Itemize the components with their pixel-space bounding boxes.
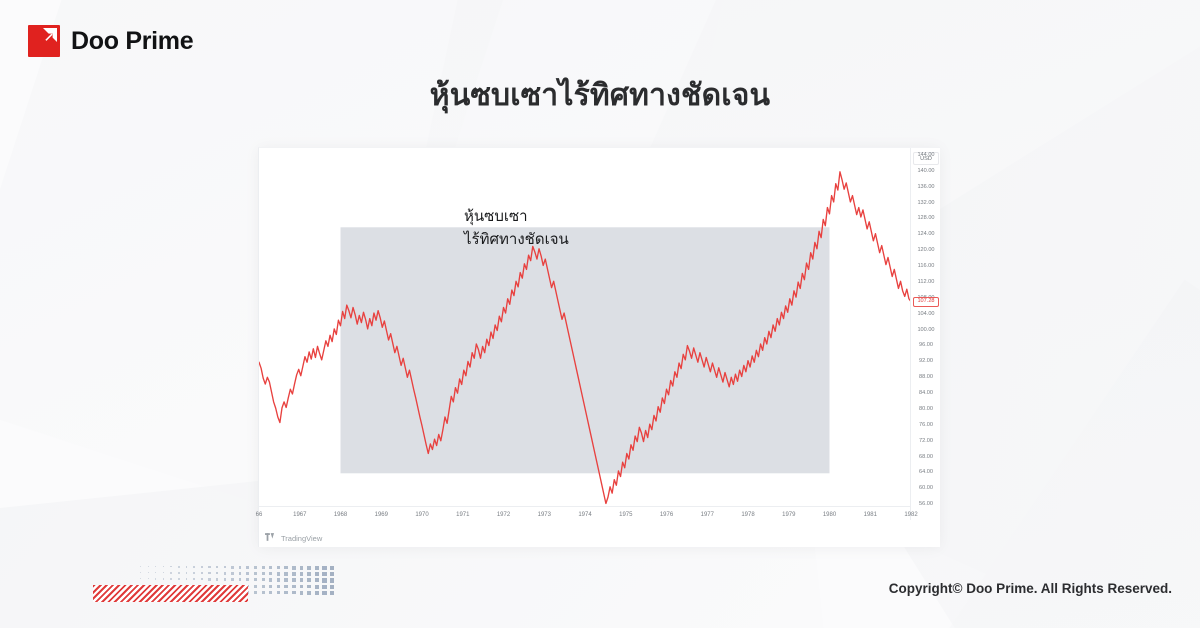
price-tick: 128.00 xyxy=(911,216,941,222)
decoration-dot xyxy=(300,578,304,582)
decoration-dot xyxy=(208,566,210,568)
decoration-dot xyxy=(254,591,257,594)
decoration-dot xyxy=(239,572,242,575)
decoration-dot xyxy=(322,572,326,576)
price-tick: 140.00 xyxy=(911,169,941,175)
decoration-dot xyxy=(254,566,257,569)
decoration-dot xyxy=(216,578,218,580)
decoration-dot xyxy=(307,578,311,582)
decoration-dot xyxy=(269,566,272,569)
price-tick: 76.00 xyxy=(911,423,941,429)
decoration-dot xyxy=(231,566,234,569)
tradingview-label: TradingView xyxy=(281,534,322,543)
price-tick: 100.00 xyxy=(911,328,941,334)
decoration-dot xyxy=(330,591,334,595)
decoration-dot xyxy=(330,566,334,570)
decoration-dot xyxy=(330,585,334,589)
price-tick: 120.00 xyxy=(911,248,941,254)
decoration-dot xyxy=(170,572,171,573)
decoration-dot xyxy=(148,566,149,567)
time-tick: 1982 xyxy=(904,512,917,518)
chart-annotation-label: หุ้นซบเซา ไร้ทิศทางชัดเจน xyxy=(464,205,569,252)
time-tick: 1971 xyxy=(456,512,469,518)
decoration-dot xyxy=(246,572,249,575)
price-tick: 132.00 xyxy=(911,201,941,207)
price-tick: 80.00 xyxy=(911,407,941,413)
decoration-dot xyxy=(307,591,311,595)
price-tick: 104.00 xyxy=(911,312,941,318)
decoration-dot xyxy=(186,566,188,568)
decoration-dot xyxy=(315,572,319,576)
decoration-dot xyxy=(208,572,210,574)
time-tick: 1976 xyxy=(660,512,673,518)
decoration-dot xyxy=(292,591,296,595)
decoration-dot xyxy=(307,566,311,570)
decoration-dot xyxy=(231,578,234,581)
decoration-dot xyxy=(216,572,218,574)
price-tick: 92.00 xyxy=(911,359,941,365)
price-tick: 124.00 xyxy=(911,232,941,238)
price-tick: 88.00 xyxy=(911,375,941,381)
decoration-dot xyxy=(322,585,326,589)
decoration-dot xyxy=(284,566,287,569)
decoration-dot xyxy=(208,578,210,580)
decoration-dot xyxy=(148,578,149,579)
decoration-dot xyxy=(216,566,218,568)
decoration-dot xyxy=(140,578,141,579)
decoration-dot xyxy=(292,578,296,582)
decoration-dot xyxy=(178,572,180,574)
price-tick: 112.00 xyxy=(911,280,941,286)
time-tick: 1969 xyxy=(375,512,388,518)
decoration-dot xyxy=(246,578,249,581)
decoration-dot xyxy=(300,572,304,576)
decoration-dot xyxy=(178,566,180,568)
decoration-dot xyxy=(322,591,326,595)
decoration-dot xyxy=(269,585,272,588)
decoration-dot xyxy=(269,578,272,581)
decoration-dot xyxy=(239,578,242,581)
decoration-dot xyxy=(254,572,257,575)
decoration-dot xyxy=(155,572,156,573)
chart-plot-area xyxy=(259,148,911,513)
decoration-dot xyxy=(292,572,296,576)
decoration-dot xyxy=(193,566,195,568)
time-tick: 1968 xyxy=(334,512,347,518)
decoration-dot xyxy=(148,572,149,573)
decoration-dot xyxy=(277,591,280,594)
decoration-dot xyxy=(140,572,141,573)
decoration-dot xyxy=(269,591,272,594)
price-axis[interactable]: USD 144.00140.00136.00132.00128.00124.00… xyxy=(910,148,940,520)
decoration-dot xyxy=(254,585,257,588)
time-tick: 1974 xyxy=(578,512,591,518)
footer-decoration xyxy=(88,566,348,606)
decoration-dot xyxy=(322,566,326,570)
time-axis[interactable]: 6619671968196919701971197219731974197519… xyxy=(259,506,911,524)
page-title: หุ้นซบเซาไร้ทิศทางชัดเจน xyxy=(0,72,1200,119)
time-tick: 1970 xyxy=(415,512,428,518)
decoration-dot xyxy=(193,572,195,574)
decoration-dot xyxy=(163,578,164,579)
decoration-dot xyxy=(186,578,188,580)
tradingview-logo-icon xyxy=(265,533,277,543)
decoration-dot xyxy=(315,585,319,589)
decoration-dot xyxy=(292,585,296,589)
decoration-dot xyxy=(224,566,226,568)
time-tick: 1975 xyxy=(619,512,632,518)
decoration-dot xyxy=(277,566,280,569)
decoration-dot xyxy=(330,572,334,576)
chart-card: หุ้นซบเซา ไร้ทิศทางชัดเจน USD 144.00140.… xyxy=(258,147,940,547)
decoration-dot xyxy=(307,585,311,589)
price-tick: 116.00 xyxy=(911,264,941,270)
decoration-dot xyxy=(262,566,265,569)
copyright-text: Copyright© Doo Prime. All Rights Reserve… xyxy=(889,581,1172,596)
decoration-dot xyxy=(193,578,195,580)
time-tick: 66 xyxy=(256,512,263,518)
time-tick: 1977 xyxy=(701,512,714,518)
decoration-dot xyxy=(300,585,304,589)
stripe-bar-decoration xyxy=(93,585,248,602)
time-tick: 1973 xyxy=(538,512,551,518)
decoration-dot xyxy=(307,572,311,576)
decoration-dot xyxy=(140,566,141,567)
decoration-dot xyxy=(322,578,326,582)
decoration-dot xyxy=(284,578,287,581)
decoration-dot xyxy=(262,572,265,575)
price-tick: 72.00 xyxy=(911,439,941,445)
decoration-dot xyxy=(201,566,203,568)
price-tick: 144.00 xyxy=(911,153,941,159)
price-line-chart xyxy=(259,148,911,513)
decoration-dot xyxy=(262,591,265,594)
decoration-dot xyxy=(277,578,280,581)
decoration-dot xyxy=(155,578,156,579)
decoration-dot xyxy=(292,566,296,570)
decoration-dot xyxy=(315,578,319,582)
time-tick: 1978 xyxy=(741,512,754,518)
time-tick: 1981 xyxy=(864,512,877,518)
decoration-dot xyxy=(284,591,287,594)
decoration-dot xyxy=(315,591,319,595)
decoration-dot xyxy=(300,591,304,595)
decoration-dot xyxy=(163,566,164,567)
price-tick: 136.00 xyxy=(911,185,941,191)
time-tick: 1980 xyxy=(823,512,836,518)
decoration-dot xyxy=(269,572,272,575)
price-tick: 68.00 xyxy=(911,455,941,461)
time-tick: 1972 xyxy=(497,512,510,518)
price-tick: 60.00 xyxy=(911,486,941,492)
decoration-dot xyxy=(330,578,334,582)
price-tick: 56.00 xyxy=(911,502,941,508)
decoration-dot xyxy=(170,566,171,567)
decoration-dot xyxy=(231,572,234,575)
price-tick: 96.00 xyxy=(911,343,941,349)
decoration-dot xyxy=(186,572,188,574)
decoration-dot xyxy=(201,572,203,574)
decoration-dot xyxy=(284,572,287,575)
decoration-dot xyxy=(224,572,226,574)
time-tick: 1967 xyxy=(293,512,306,518)
decoration-dot xyxy=(277,585,280,588)
time-tick: 1979 xyxy=(782,512,795,518)
price-tick: 84.00 xyxy=(911,391,941,397)
brand-logo: Doo Prime xyxy=(28,25,193,57)
decoration-dot xyxy=(300,566,304,570)
brand-name: Doo Prime xyxy=(71,27,193,56)
decoration-dot xyxy=(262,585,265,588)
decoration-dot xyxy=(254,578,257,581)
decoration-dot xyxy=(170,578,171,579)
decoration-dot xyxy=(239,566,242,569)
price-tick: 64.00 xyxy=(911,470,941,476)
decoration-dot xyxy=(315,566,319,570)
decoration-dot xyxy=(201,578,203,580)
decoration-dot xyxy=(155,566,156,567)
tradingview-attribution[interactable]: TradingView xyxy=(265,533,322,543)
decoration-dot xyxy=(262,578,265,581)
current-price-label: 107.28 xyxy=(913,297,939,308)
decoration-dot xyxy=(284,585,287,588)
decoration-dot xyxy=(246,566,249,569)
decoration-dot xyxy=(224,578,226,580)
decoration-dot xyxy=(163,572,164,573)
decoration-dot xyxy=(178,578,180,580)
doo-prime-mark-icon xyxy=(28,25,60,57)
decoration-dot xyxy=(277,572,280,575)
